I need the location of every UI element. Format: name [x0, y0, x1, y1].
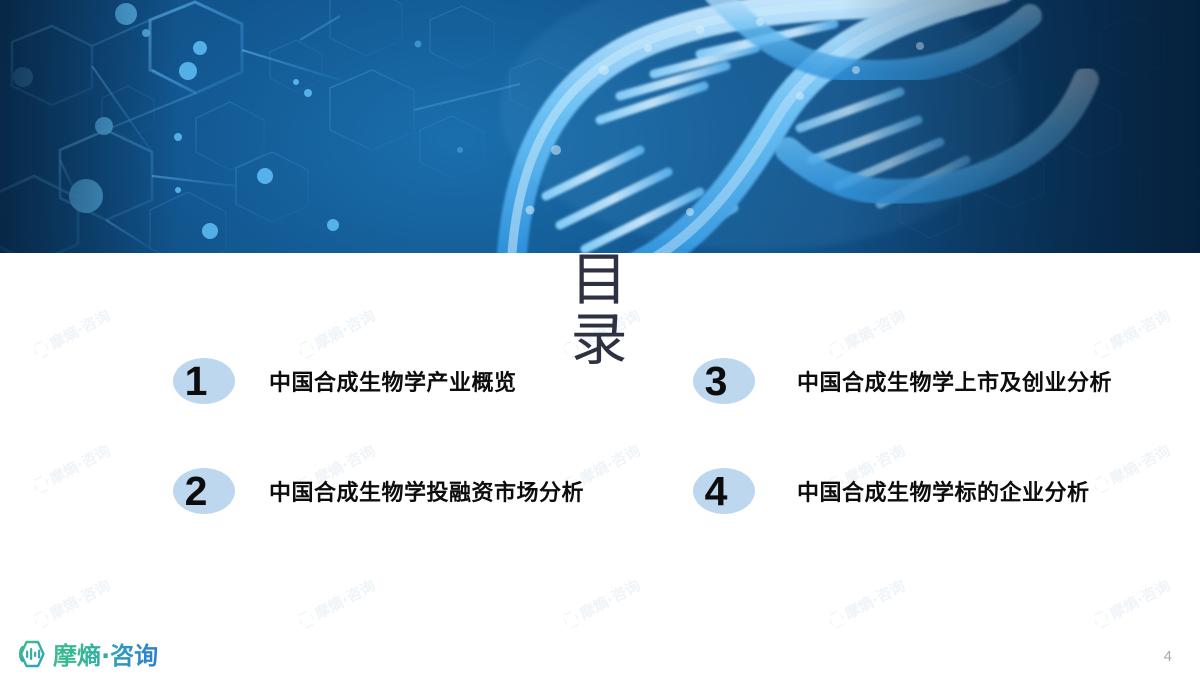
toc-number-badge-3: 3	[685, 358, 755, 404]
page-title-char-1: 目	[0, 250, 1200, 310]
toc-item-4[interactable]: 4 中国合成生物学标的企业分析	[685, 468, 1090, 514]
toc-row-2: 2 中国合成生物学投融资市场分析 4 中国合成生物学标的企业分析	[0, 468, 1200, 578]
watermark-text: 摩熵·咨询	[1106, 575, 1174, 624]
toc-item-1[interactable]: 1 中国合成生物学产业概览	[165, 358, 517, 404]
toc-item-3[interactable]: 3 中国合成生物学上市及创业分析	[685, 358, 1112, 404]
page-title: 目 录	[0, 250, 1200, 370]
watermark-hex-icon	[296, 609, 317, 631]
toc-number-2: 2	[165, 468, 227, 514]
watermark-hex-icon	[31, 609, 52, 631]
toc-label-1: 中国合成生物学产业概览	[269, 365, 517, 397]
toc-number-3: 3	[685, 358, 747, 404]
watermark-hex-icon	[1091, 609, 1112, 631]
hexagon-logo-icon	[16, 639, 46, 669]
presentation-slide: 摩熵·咨询 摩熵·咨询 摩熵·咨询 摩熵·咨询 摩熵·咨询 摩熵·咨询 摩熵·咨…	[0, 0, 1200, 675]
banner-graphic	[0, 0, 1200, 253]
toc-number-4: 4	[685, 468, 747, 514]
watermark-text: 摩熵·咨询	[311, 575, 379, 624]
header-banner-image	[0, 0, 1200, 253]
watermark-hex-icon	[561, 609, 582, 631]
page-number: 4	[1164, 648, 1172, 665]
table-of-contents: 1 中国合成生物学产业概览 3 中国合成生物学上市及创业分析 2 中国合成生物学…	[0, 358, 1200, 578]
watermark-text: 摩熵·咨询	[841, 575, 909, 624]
toc-number-badge-2: 2	[165, 468, 235, 514]
toc-number-1: 1	[165, 358, 227, 404]
toc-number-badge-4: 4	[685, 468, 755, 514]
toc-row-1: 1 中国合成生物学产业概览 3 中国合成生物学上市及创业分析	[0, 358, 1200, 468]
company-logo: 摩熵·咨询	[16, 636, 158, 671]
toc-item-2[interactable]: 2 中国合成生物学投融资市场分析	[165, 468, 584, 514]
toc-label-4: 中国合成生物学标的企业分析	[797, 475, 1090, 507]
watermark-text: 摩熵·咨询	[46, 575, 114, 624]
toc-number-badge-1: 1	[165, 358, 235, 404]
logo-text: 摩熵·咨询	[53, 636, 158, 671]
toc-label-2: 中国合成生物学投融资市场分析	[269, 475, 584, 507]
watermark-text: 摩熵·咨询	[576, 575, 644, 624]
watermark-hex-icon	[826, 609, 847, 631]
toc-label-3: 中国合成生物学上市及创业分析	[797, 365, 1112, 397]
